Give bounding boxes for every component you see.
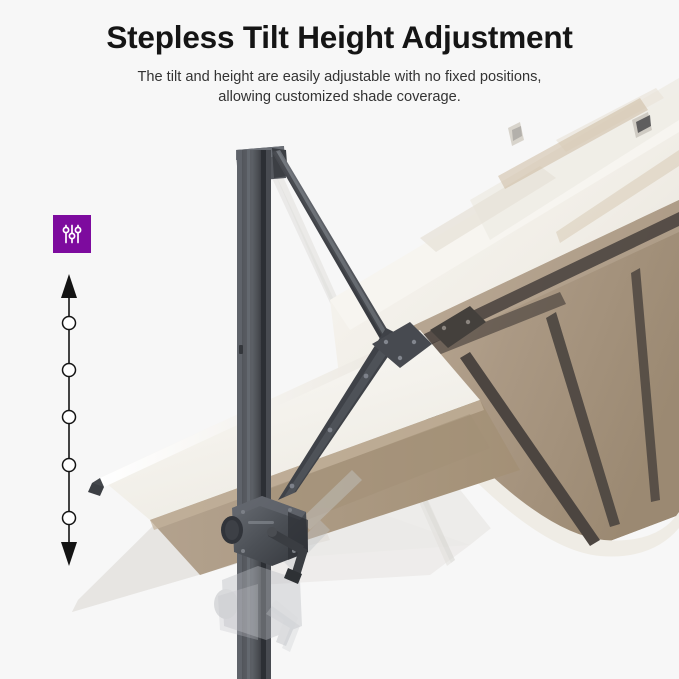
arrow-up-icon xyxy=(61,274,77,298)
scale-stop xyxy=(63,317,76,330)
scale-stop xyxy=(63,459,76,472)
scale-stop xyxy=(63,364,76,377)
sliders-icon xyxy=(60,222,84,246)
arrow-down-icon xyxy=(61,542,77,566)
scale-stop xyxy=(63,411,76,424)
adjustment-sliders-badge xyxy=(53,215,91,253)
height-adjustment-scale xyxy=(44,272,94,568)
product-feature-image: Stepless Tilt Height Adjustment The tilt… xyxy=(0,0,679,679)
scale-stop xyxy=(63,512,76,525)
cantilever-umbrella-photo xyxy=(0,0,679,679)
